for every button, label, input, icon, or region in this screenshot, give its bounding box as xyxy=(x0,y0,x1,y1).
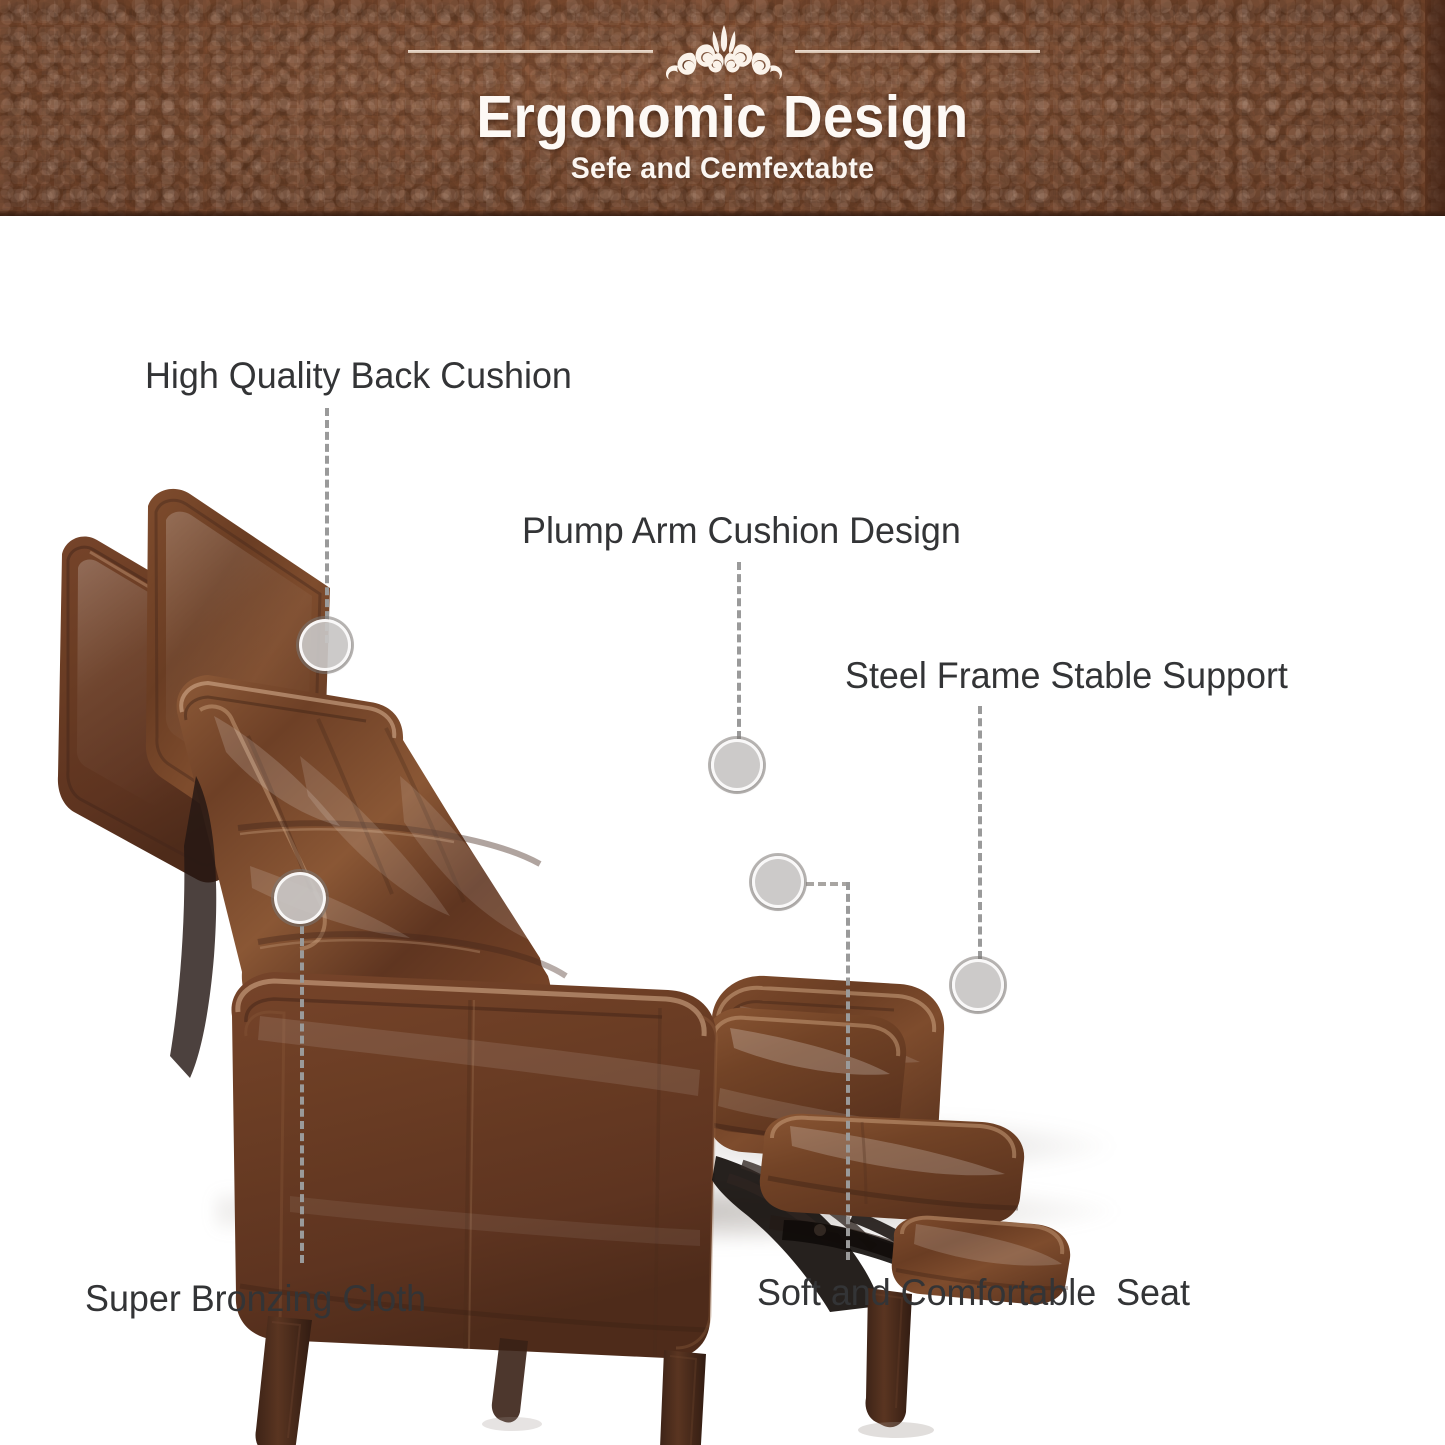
page-subtitle: Sefe and Cemfextabte xyxy=(36,152,1409,186)
page-title: Ergonomic Design xyxy=(51,83,1395,151)
product-image-recliner xyxy=(0,216,1445,1445)
header-rule-left xyxy=(408,50,653,53)
leader-line-arm-cushion xyxy=(737,562,741,739)
callout-label-back-cushion: High Quality Back Cushion xyxy=(145,355,572,397)
leader-line-steel-frame xyxy=(978,706,982,959)
callout-label-bronzing-cloth: Super Bronzing Cloth xyxy=(85,1278,426,1320)
callout-label-steel-frame: Steel Frame Stable Support xyxy=(845,655,1288,697)
callout-label-arm-cushion: Plump Arm Cushion Design xyxy=(522,510,961,552)
chair-footrest-upper xyxy=(760,1114,1024,1224)
infographic-page: Ergonomic Design Sefe and Cemfextabte xyxy=(0,0,1445,1445)
header-ornament-row xyxy=(0,22,1445,80)
callout-marker-comfortable-seat[interactable] xyxy=(752,856,804,908)
leader-line-seat-horizontal xyxy=(806,882,850,886)
filigree-flourish-icon xyxy=(640,22,808,80)
chair-back-cushion-main xyxy=(177,675,566,1026)
callout-marker-arm-cushion[interactable] xyxy=(711,739,763,791)
header-rule-right xyxy=(795,50,1040,53)
recliner-chair-drawing xyxy=(0,216,1445,1445)
leader-line-bronzing-cloth xyxy=(300,926,304,1263)
leader-line-back-cushion xyxy=(325,408,329,643)
callout-marker-steel-frame[interactable] xyxy=(952,959,1004,1011)
header-banner: Ergonomic Design Sefe and Cemfextabte xyxy=(0,0,1445,216)
callout-marker-back-cushion[interactable] xyxy=(299,619,351,671)
leader-line-seat-vertical xyxy=(846,882,850,1260)
callout-label-comfortable-seat: Soft and Comfortable Seat xyxy=(757,1272,1190,1314)
callout-marker-bronzing-cloth[interactable] xyxy=(274,872,326,924)
